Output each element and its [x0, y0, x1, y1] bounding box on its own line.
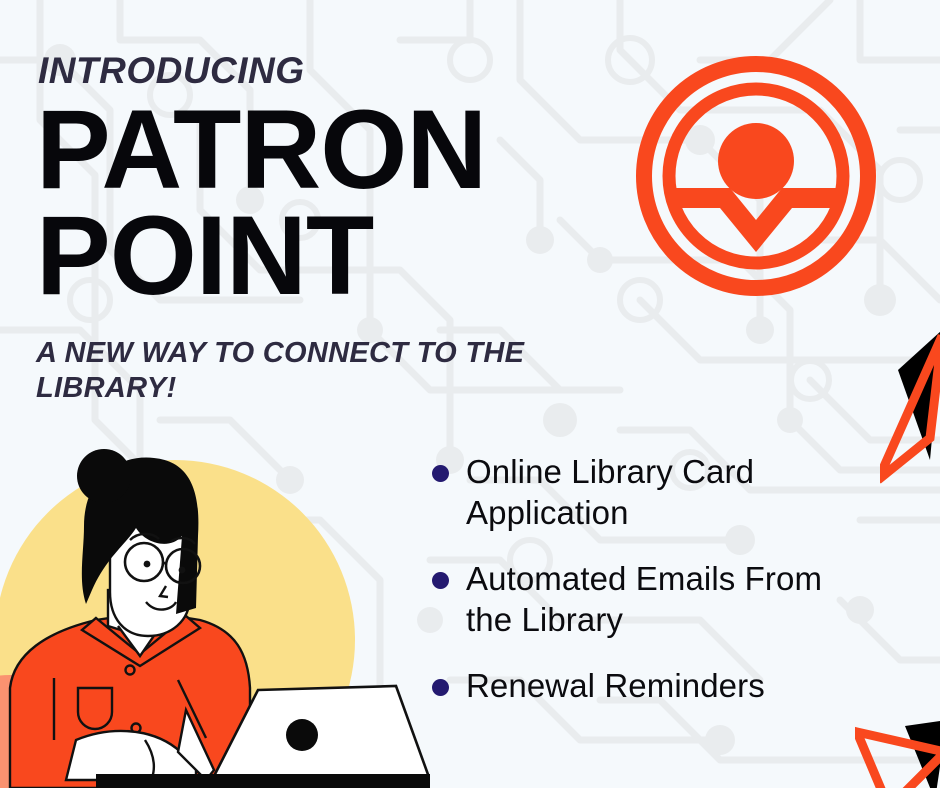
page-title-line-2: POINT — [36, 203, 373, 308]
list-item: Online Library Card Application — [430, 452, 850, 533]
patron-point-logo-icon — [636, 56, 876, 296]
person-at-laptop-illustration — [0, 440, 430, 788]
desk-bar — [96, 774, 430, 788]
list-item-label: Renewal Reminders — [466, 667, 765, 704]
list-item: Automated Emails From the Library — [430, 559, 850, 640]
bullet-dot-icon — [432, 465, 449, 482]
hair-bun-shape — [77, 449, 131, 503]
subtitle-text: A new way to connect to the library! — [36, 336, 636, 407]
kicker-text: INTRODUCING — [38, 52, 305, 89]
list-item: Renewal Reminders — [430, 666, 850, 707]
laptop-logo-dot-icon — [286, 719, 318, 751]
list-item-label: Automated Emails From the Library — [466, 560, 822, 638]
bullet-dot-icon — [432, 572, 449, 589]
bullet-dot-icon — [432, 679, 449, 696]
feature-list: Online Library Card Application Automate… — [430, 452, 850, 707]
page-title-line-1: PATRON — [36, 97, 486, 202]
patron-point-promo-poster: INTRODUCING PATRON POINT A new way to co… — [0, 0, 940, 788]
list-item-label: Online Library Card Application — [466, 453, 754, 531]
